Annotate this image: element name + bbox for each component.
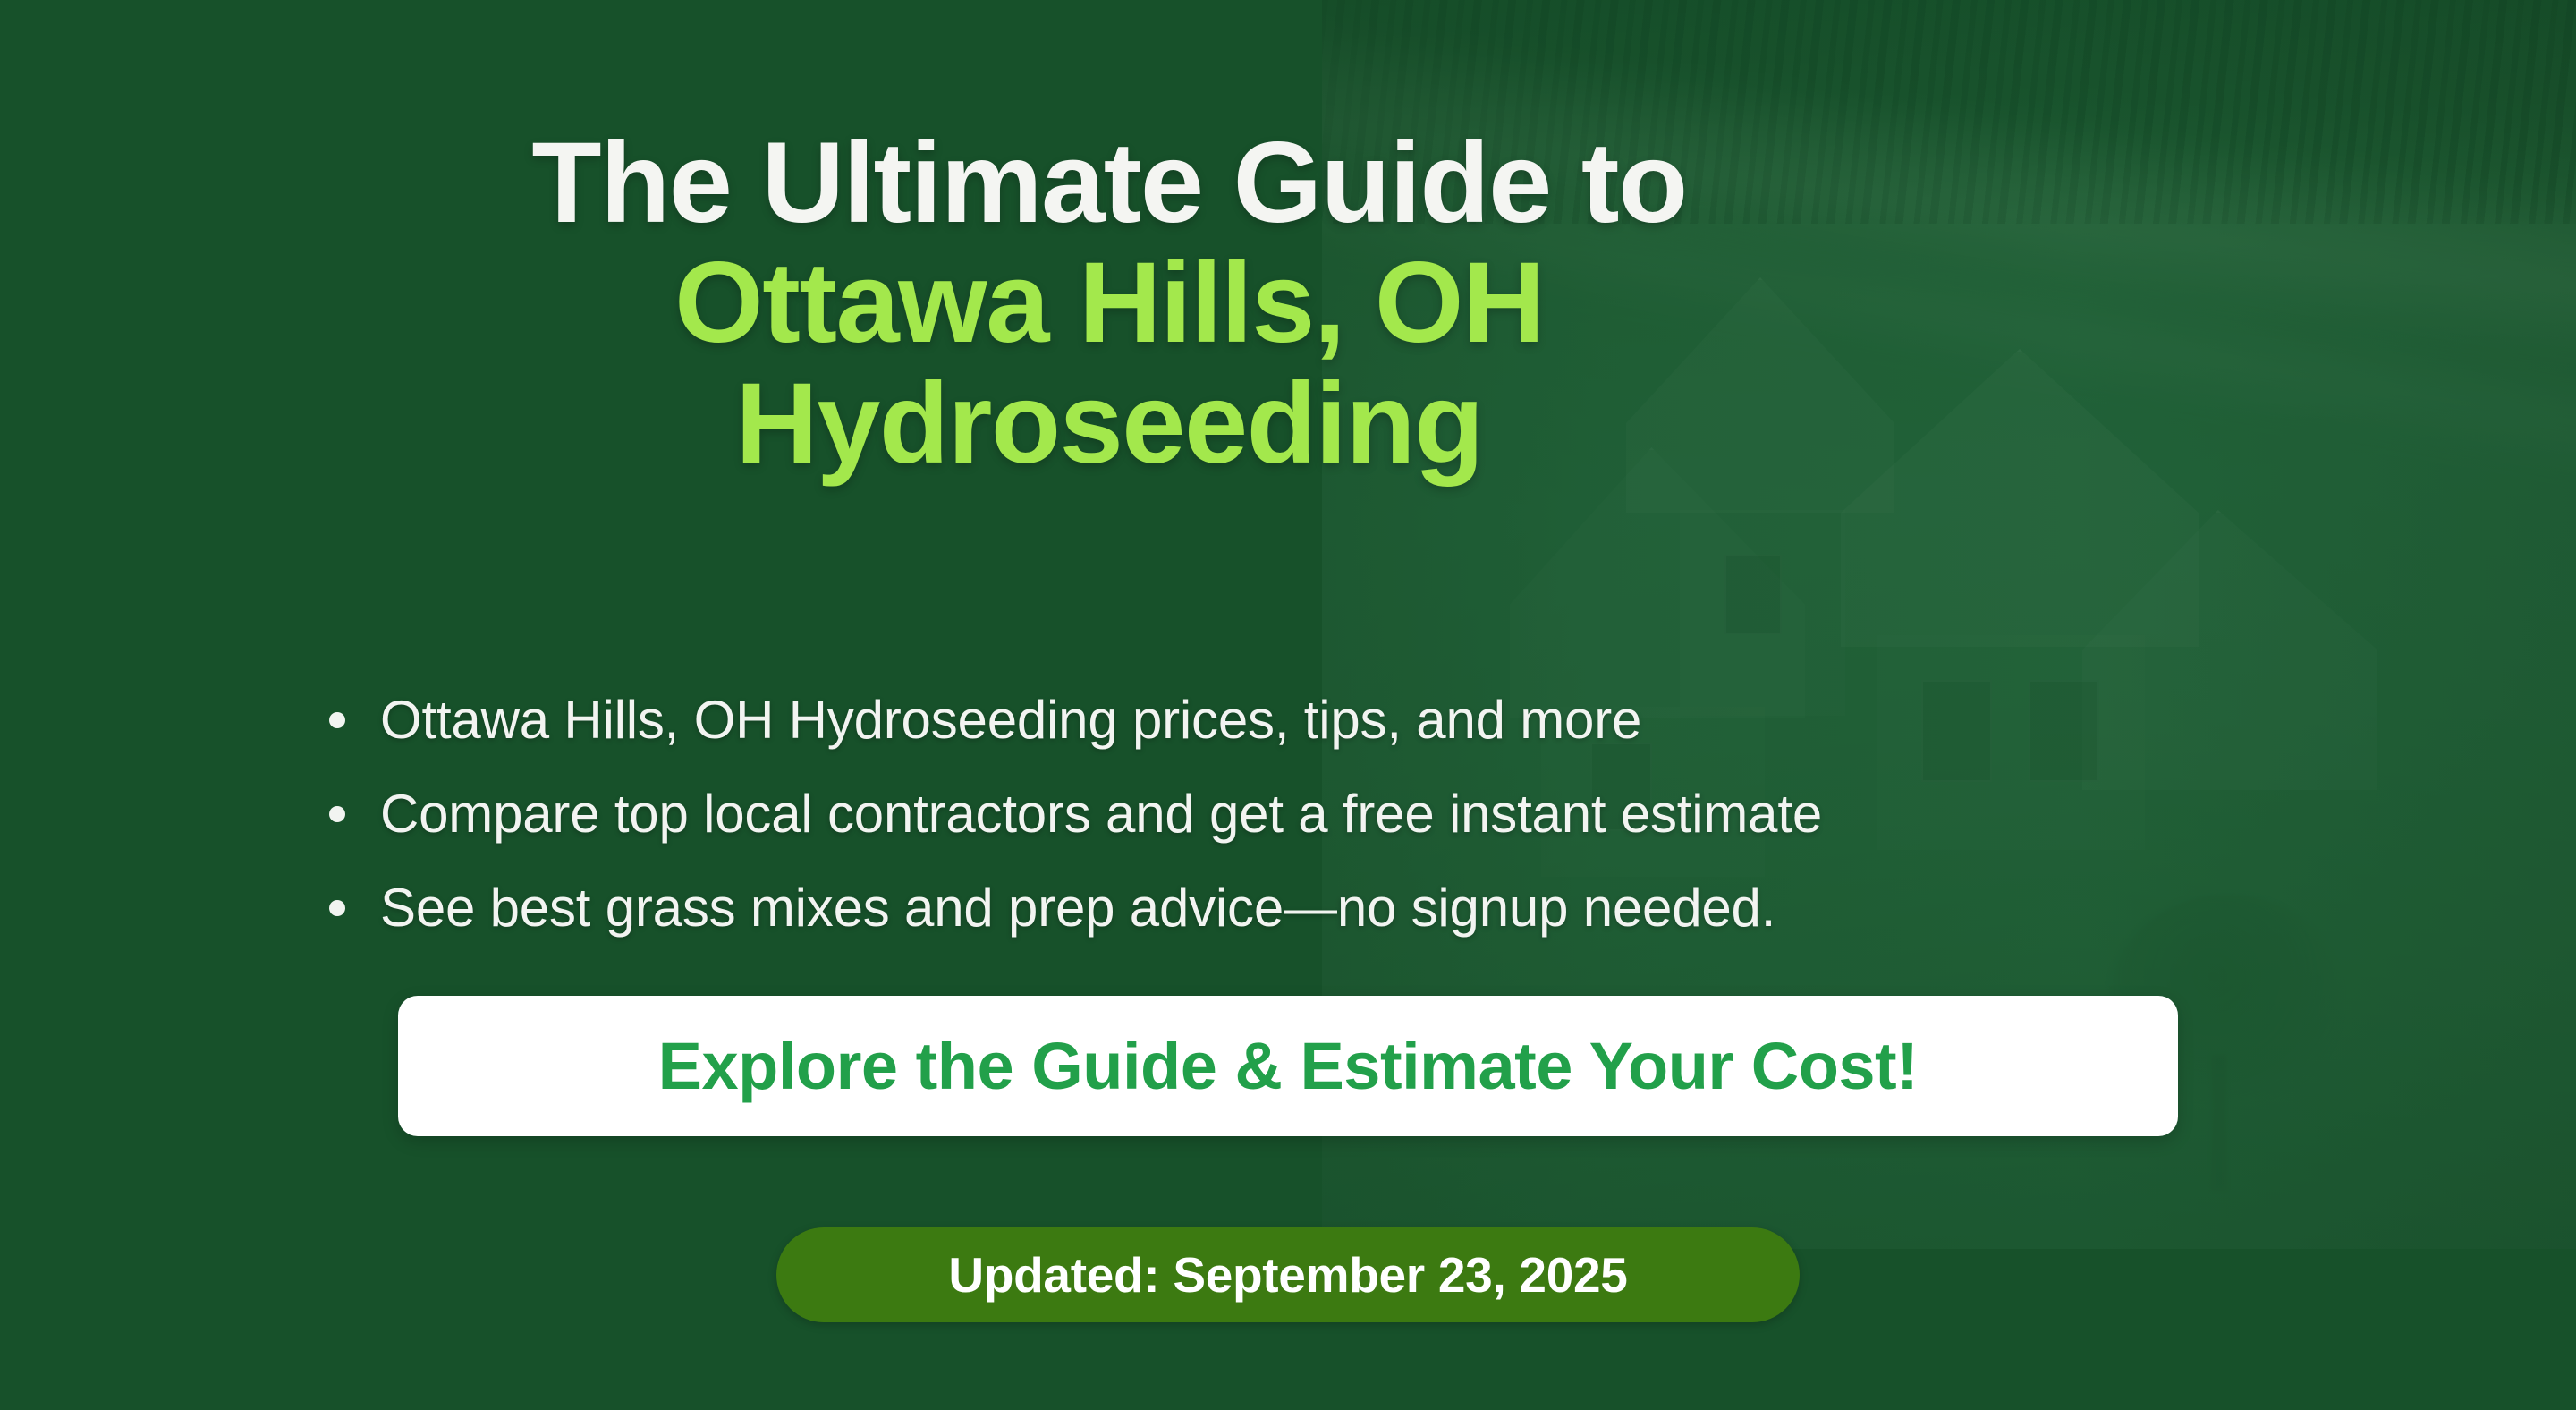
hero-banner: The Ultimate Guide to Ottawa Hills, OH H… — [0, 0, 2576, 1410]
bullet-dot-icon — [329, 900, 345, 916]
list-item-label: See best grass mixes and prep advice—no … — [380, 878, 1775, 938]
bullet-dot-icon — [329, 806, 345, 822]
feature-bullet-list: Ottawa Hills, OH Hydroseeding prices, ti… — [322, 673, 2290, 955]
headline-line-3: Hydroseeding — [0, 364, 2218, 484]
list-item: Ottawa Hills, OH Hydroseeding prices, ti… — [322, 673, 2290, 767]
list-item-label: Ottawa Hills, OH Hydroseeding prices, ti… — [380, 690, 1641, 750]
list-item: See best grass mixes and prep advice—no … — [322, 861, 2290, 955]
page-title: The Ultimate Guide to Ottawa Hills, OH H… — [0, 123, 2218, 484]
list-item-label: Compare top local contractors and get a … — [380, 784, 1822, 844]
banner-content: The Ultimate Guide to Ottawa Hills, OH H… — [0, 0, 2576, 1410]
updated-date-badge: Updated: September 23, 2025 — [776, 1227, 1800, 1322]
bullet-dot-icon — [329, 712, 345, 728]
headline-line-2: Ottawa Hills, OH — [0, 243, 2218, 363]
explore-guide-cta-button[interactable]: Explore the Guide & Estimate Your Cost! — [398, 996, 2178, 1136]
list-item: Compare top local contractors and get a … — [322, 767, 2290, 861]
headline-line-1: The Ultimate Guide to — [531, 119, 1686, 247]
